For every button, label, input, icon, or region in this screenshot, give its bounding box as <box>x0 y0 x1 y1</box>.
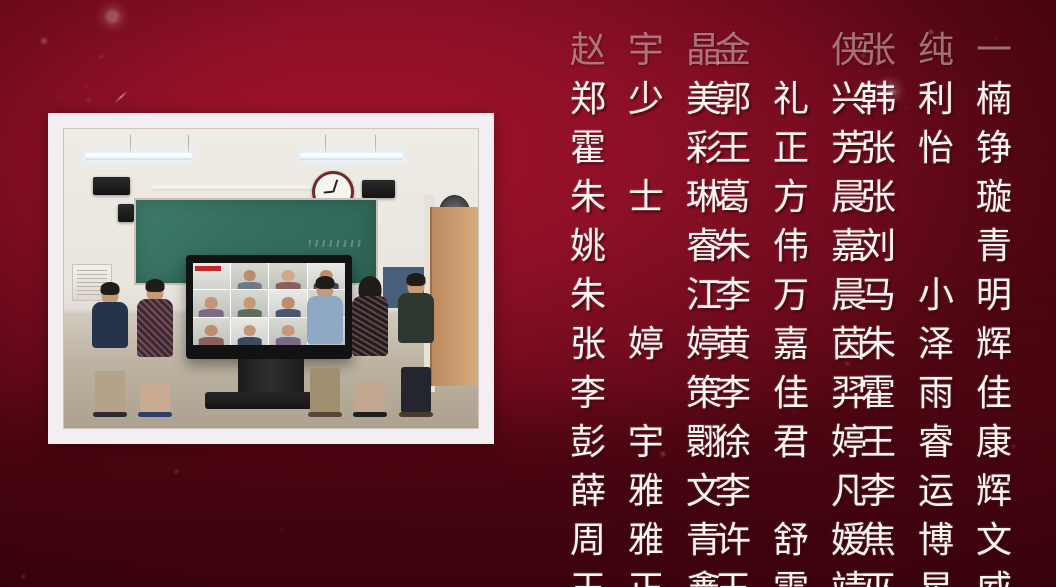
name-entry: 李运辉 <box>860 467 1012 516</box>
participant-head <box>243 297 256 308</box>
name-character: 辉 <box>976 327 1012 363</box>
name-character: 巫 <box>860 572 896 587</box>
participant-head <box>282 325 295 336</box>
participant-body <box>237 337 262 345</box>
name-entry: 王正芳 <box>715 124 867 173</box>
name-character: 金 <box>715 33 751 69</box>
person-hair <box>146 279 165 292</box>
name-character: 宇 <box>628 425 664 461</box>
name-character: 葛 <box>715 180 751 216</box>
name-entry: 李策 <box>570 369 722 418</box>
name-character: 许 <box>715 523 751 559</box>
meeting-participant-tile <box>231 318 268 345</box>
slide-canvas: 赵宇晶郑少美霍彩朱士琳姚睿朱江张婷婷李策彭宇翾薛雅文周雅青王正鑫 金侠郭礼兴王正… <box>0 0 1056 587</box>
display-stand-neck <box>238 359 304 395</box>
person-torso <box>92 302 128 348</box>
participant-head <box>282 297 295 308</box>
wall-speaker-right <box>362 180 395 198</box>
participant-head <box>243 325 256 336</box>
person-shoes <box>353 412 387 417</box>
ceiling-pipe <box>151 186 317 191</box>
name-character: 康 <box>976 425 1012 461</box>
name-entry: 葛方晨 <box>715 173 867 222</box>
wall-sensor <box>118 204 135 222</box>
participant-body <box>199 337 224 345</box>
name-character: 少 <box>628 82 664 118</box>
meeting-participant-tile <box>269 318 306 345</box>
name-character: 一 <box>976 33 1012 69</box>
name-column-1: 赵宇晶郑少美霍彩朱士琳姚睿朱江张婷婷李策彭宇翾薛雅文周雅青王正鑫 <box>570 26 722 587</box>
meeting-participant-tile <box>269 290 306 317</box>
name-entry: 李万晨 <box>715 271 867 320</box>
participant-head <box>282 270 295 281</box>
name-entry: 张璇 <box>860 173 1012 222</box>
name-character: 彭 <box>570 425 606 461</box>
participant-head <box>205 297 218 308</box>
name-character: 怡 <box>918 131 954 167</box>
name-character: 赵 <box>570 33 606 69</box>
name-entry: 王睿康 <box>860 418 1012 467</box>
meeting-participant-tile <box>231 290 268 317</box>
lamp-rod <box>325 135 326 153</box>
name-entry: 王雯靖 <box>715 565 867 587</box>
participant-body <box>276 309 301 317</box>
name-character: 朱 <box>570 278 606 314</box>
name-character: 伟 <box>773 229 809 265</box>
name-entry: 朱伟嘉 <box>715 222 867 271</box>
person-shoes <box>93 412 127 417</box>
name-credits-list: 赵宇晶郑少美霍彩朱士琳姚睿朱江张婷婷李策彭宇翾薛雅文周雅青王正鑫 金侠郭礼兴王正… <box>560 0 1056 587</box>
chalk-writing <box>309 240 362 248</box>
name-character: 礼 <box>773 82 809 118</box>
participant-body <box>199 309 224 317</box>
name-entry: 霍彩 <box>570 124 722 173</box>
name-entry: 薛雅文 <box>570 467 722 516</box>
name-entry: 韩利楠 <box>860 75 1012 124</box>
name-character: 泽 <box>918 327 954 363</box>
name-character: 李 <box>715 376 751 412</box>
participant-head <box>243 270 256 281</box>
participant-body <box>276 282 301 290</box>
ceiling-lamp <box>85 153 193 160</box>
person-torso <box>307 296 343 344</box>
door-panel <box>430 207 478 386</box>
group-photo <box>63 128 479 429</box>
name-character: 雯 <box>773 572 809 587</box>
name-character: 姚 <box>570 229 606 265</box>
name-character: 楠 <box>976 82 1012 118</box>
name-entry: 王正鑫 <box>570 565 722 587</box>
name-entry: 姚睿 <box>570 222 722 271</box>
meeting-participant-tile <box>193 290 230 317</box>
name-character: 徐 <box>715 425 751 461</box>
name-entry: 彭宇翾 <box>570 418 722 467</box>
name-character: 青 <box>976 229 1012 265</box>
person-shoes <box>399 412 433 417</box>
name-character: 王 <box>860 425 896 461</box>
name-character: 运 <box>918 474 954 510</box>
name-entry: 霍雨佳 <box>860 369 1012 418</box>
name-character: 王 <box>570 572 606 587</box>
name-character: 张 <box>570 327 606 363</box>
name-character: 朱 <box>860 327 896 363</box>
person-torso <box>352 296 388 356</box>
name-entry: 赵宇晶 <box>570 26 722 75</box>
name-character: 韩 <box>860 82 896 118</box>
meeting-participant-tile <box>231 263 268 290</box>
name-entry: 李凡 <box>715 467 867 516</box>
name-entry: 焦博文 <box>860 516 1012 565</box>
name-character: 嘉 <box>773 327 809 363</box>
name-character: 文 <box>976 523 1012 559</box>
name-character: 佳 <box>773 376 809 412</box>
name-character: 张 <box>860 33 896 69</box>
participant-body <box>237 282 262 290</box>
name-character: 婷 <box>628 327 664 363</box>
name-character: 王 <box>715 572 751 587</box>
person-torso <box>398 293 434 343</box>
name-entry: 黄嘉茵 <box>715 320 867 369</box>
name-character: 正 <box>773 131 809 167</box>
name-character: 朱 <box>570 180 606 216</box>
name-character: 雅 <box>628 474 664 510</box>
person-hair <box>406 273 425 286</box>
name-character: 佳 <box>976 376 1012 412</box>
name-entry: 张纯一 <box>860 26 1012 75</box>
name-character: 郑 <box>570 82 606 118</box>
name-character: 利 <box>918 82 954 118</box>
name-character: 雨 <box>918 376 954 412</box>
name-character: 宇 <box>628 33 664 69</box>
person-torso <box>137 299 173 357</box>
lamp-rod <box>375 135 376 153</box>
name-character: 郭 <box>715 82 751 118</box>
name-entry: 金侠 <box>715 26 867 75</box>
name-character: 方 <box>773 180 809 216</box>
name-character: 明 <box>976 278 1012 314</box>
name-column-3: 张纯一韩利楠张怡铮张璇刘青马小明朱泽辉霍雨佳王睿康李运辉焦博文巫星威 <box>860 26 1012 587</box>
name-character: 张 <box>860 131 896 167</box>
name-entry: 朱泽辉 <box>860 320 1012 369</box>
ceiling-lamp <box>300 153 404 160</box>
name-character: 威 <box>976 572 1012 587</box>
name-entry: 张怡铮 <box>860 124 1012 173</box>
person-shoes <box>308 412 342 417</box>
name-character: 万 <box>773 278 809 314</box>
person-hair <box>100 282 119 295</box>
name-entry: 巫星威 <box>860 565 1012 587</box>
name-entry: 朱士琳 <box>570 173 722 222</box>
wall-speaker-left <box>93 177 130 195</box>
name-character: 李 <box>715 474 751 510</box>
person-hair <box>315 276 334 289</box>
name-character: 朱 <box>715 229 751 265</box>
person-shoes <box>138 412 172 417</box>
name-character: 霍 <box>860 376 896 412</box>
person-legs <box>310 368 340 413</box>
name-character: 小 <box>918 278 954 314</box>
name-column-2: 金侠郭礼兴王正芳葛方晨朱伟嘉李万晨黄嘉茵李佳羿徐君婷李凡许舒媛王雯靖 <box>715 26 867 587</box>
name-entry: 李佳羿 <box>715 369 867 418</box>
name-entry: 郭礼兴 <box>715 75 867 124</box>
name-entry: 马小明 <box>860 271 1012 320</box>
name-character: 舒 <box>773 523 809 559</box>
name-character: 纯 <box>918 33 954 69</box>
meeting-participant-tile <box>269 263 306 290</box>
photo-frame <box>48 113 494 444</box>
name-character: 王 <box>715 131 751 167</box>
name-character: 张 <box>860 180 896 216</box>
name-entry: 许舒媛 <box>715 516 867 565</box>
name-character: 刘 <box>860 229 896 265</box>
person-legs <box>355 383 385 413</box>
name-character: 博 <box>918 523 954 559</box>
name-entry: 周雅青 <box>570 516 722 565</box>
participant-body <box>237 309 262 317</box>
name-character: 霍 <box>570 131 606 167</box>
name-entry: 刘青 <box>860 222 1012 271</box>
name-character: 李 <box>570 376 606 412</box>
name-entry: 徐君婷 <box>715 418 867 467</box>
person-legs <box>401 367 431 413</box>
name-character: 李 <box>860 474 896 510</box>
name-character: 黄 <box>715 327 751 363</box>
participant-head <box>205 325 218 336</box>
name-character: 雅 <box>628 523 664 559</box>
name-character: 士 <box>628 180 664 216</box>
name-character: 星 <box>918 572 954 587</box>
participant-body <box>276 337 301 345</box>
name-character: 辉 <box>976 474 1012 510</box>
name-entry: 郑少美 <box>570 75 722 124</box>
name-entry: 张婷婷 <box>570 320 722 369</box>
name-character: 薛 <box>570 474 606 510</box>
name-character: 李 <box>715 278 751 314</box>
name-character: 周 <box>570 523 606 559</box>
meeting-participant-tile <box>193 318 230 345</box>
name-character: 铮 <box>976 131 1012 167</box>
name-character: 马 <box>860 278 896 314</box>
person-legs <box>95 371 125 413</box>
name-character: 焦 <box>860 523 896 559</box>
name-character: 正 <box>628 572 664 587</box>
name-entry: 朱江 <box>570 271 722 320</box>
name-character: 君 <box>773 425 809 461</box>
name-character: 璇 <box>976 180 1012 216</box>
lamp-rod <box>188 135 189 153</box>
name-character: 睿 <box>918 425 954 461</box>
meeting-participant-tile <box>193 263 230 290</box>
person-legs <box>140 383 170 413</box>
